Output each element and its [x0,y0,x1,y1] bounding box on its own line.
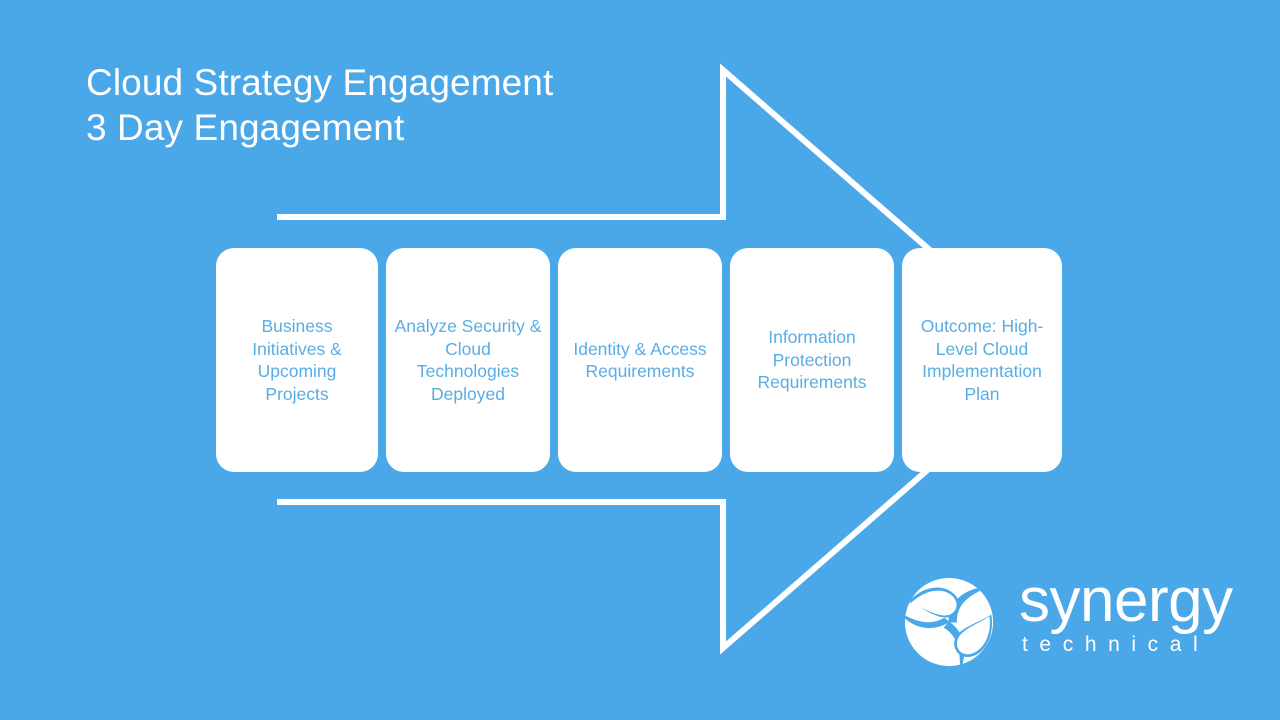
process-steps-row: Business Initiatives & Upcoming Projects… [216,248,1064,472]
page-title: Cloud Strategy Engagement 3 Day Engageme… [86,60,706,150]
logo-wordmark: synergy [1019,568,1249,634]
process-step-card[interactable]: Business Initiatives & Upcoming Projects [216,248,378,472]
process-step-label: Analyze Security & Cloud Technologies De… [394,315,542,405]
process-step-label: Business Initiatives & Upcoming Projects [224,315,370,405]
title-line-1: Cloud Strategy Engagement [86,60,706,105]
process-step-card[interactable]: Information Protection Requirements [730,248,894,472]
logo-wordmark-group: synergy technical [1019,568,1249,658]
process-step-card[interactable]: Outcome: High-Level Cloud Implementation… [902,248,1062,472]
process-step-card[interactable]: Analyze Security & Cloud Technologies De… [386,248,550,472]
slide-canvas: Cloud Strategy Engagement 3 Day Engageme… [0,0,1280,720]
synergy-pinwheel-circle-icon [903,576,995,668]
logo-tagline: technical [1019,632,1249,658]
company-logo: synergy technical [903,568,1248,676]
process-step-label: Identity & Access Requirements [566,338,714,383]
process-step-label: Information Protection Requirements [738,326,886,394]
title-line-2: 3 Day Engagement [86,105,706,150]
process-step-card[interactable]: Identity & Access Requirements [558,248,722,472]
process-step-label: Outcome: High-Level Cloud Implementation… [910,315,1054,405]
